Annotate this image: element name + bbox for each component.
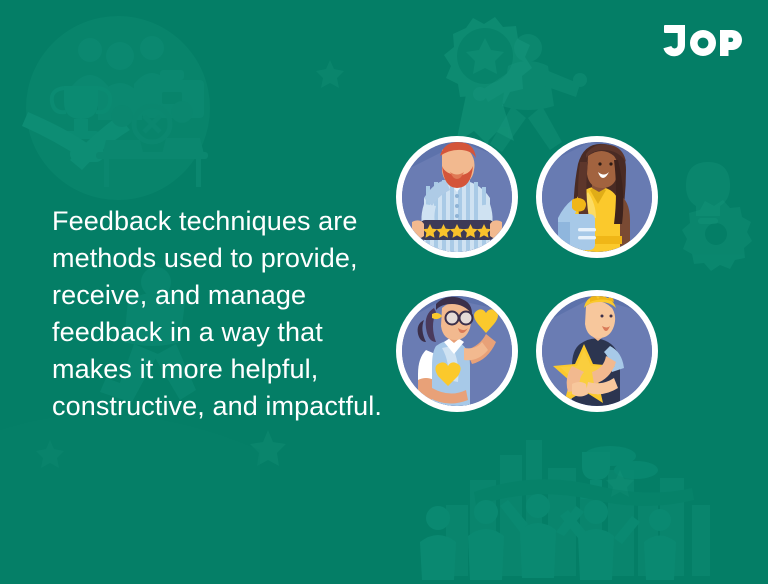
jumping-person-icon	[473, 34, 587, 152]
illustration-disc	[402, 142, 512, 252]
trophy-icon	[52, 86, 111, 139]
man-star-art	[542, 296, 652, 406]
headline-text: Feedback techniques are methods used to …	[52, 203, 396, 425]
trophy-icon	[580, 452, 612, 499]
celebrating-crowd-icon	[420, 494, 676, 580]
jop-logo[interactable]	[663, 22, 743, 58]
lightbulb-icon	[686, 162, 730, 224]
jop-logo-mark	[663, 22, 743, 58]
award-rosette-icon	[444, 17, 532, 145]
handshake-icon	[22, 112, 130, 170]
illustration-man-holding-star[interactable]	[536, 290, 658, 412]
desk-meeting-icon	[96, 101, 208, 187]
gear-icon	[682, 200, 752, 271]
illustration-disc	[542, 296, 652, 406]
illustration-woman-thumbs-up[interactable]	[536, 136, 658, 258]
woman-thumbs-up-art	[542, 142, 652, 252]
illustration-woman-glasses-hearts[interactable]	[396, 290, 518, 412]
bearded-man-five-star-art	[402, 142, 512, 252]
illustration-grid	[396, 136, 668, 418]
briefcase-icon	[142, 70, 204, 118]
upper-left-motif-cluster	[22, 16, 210, 200]
woman-hearts-art	[402, 296, 512, 406]
illustration-disc	[402, 296, 512, 406]
illustration-bearded-man-five-star-rating[interactable]	[396, 136, 518, 258]
people-group-icon	[72, 36, 170, 120]
illustration-disc	[542, 142, 652, 252]
bottom-left-highlight	[0, 414, 260, 584]
cloud-icon	[584, 446, 658, 479]
city-skyline-icon	[420, 440, 710, 580]
slide-canvas: Feedback techniques are methods used to …	[0, 0, 768, 584]
